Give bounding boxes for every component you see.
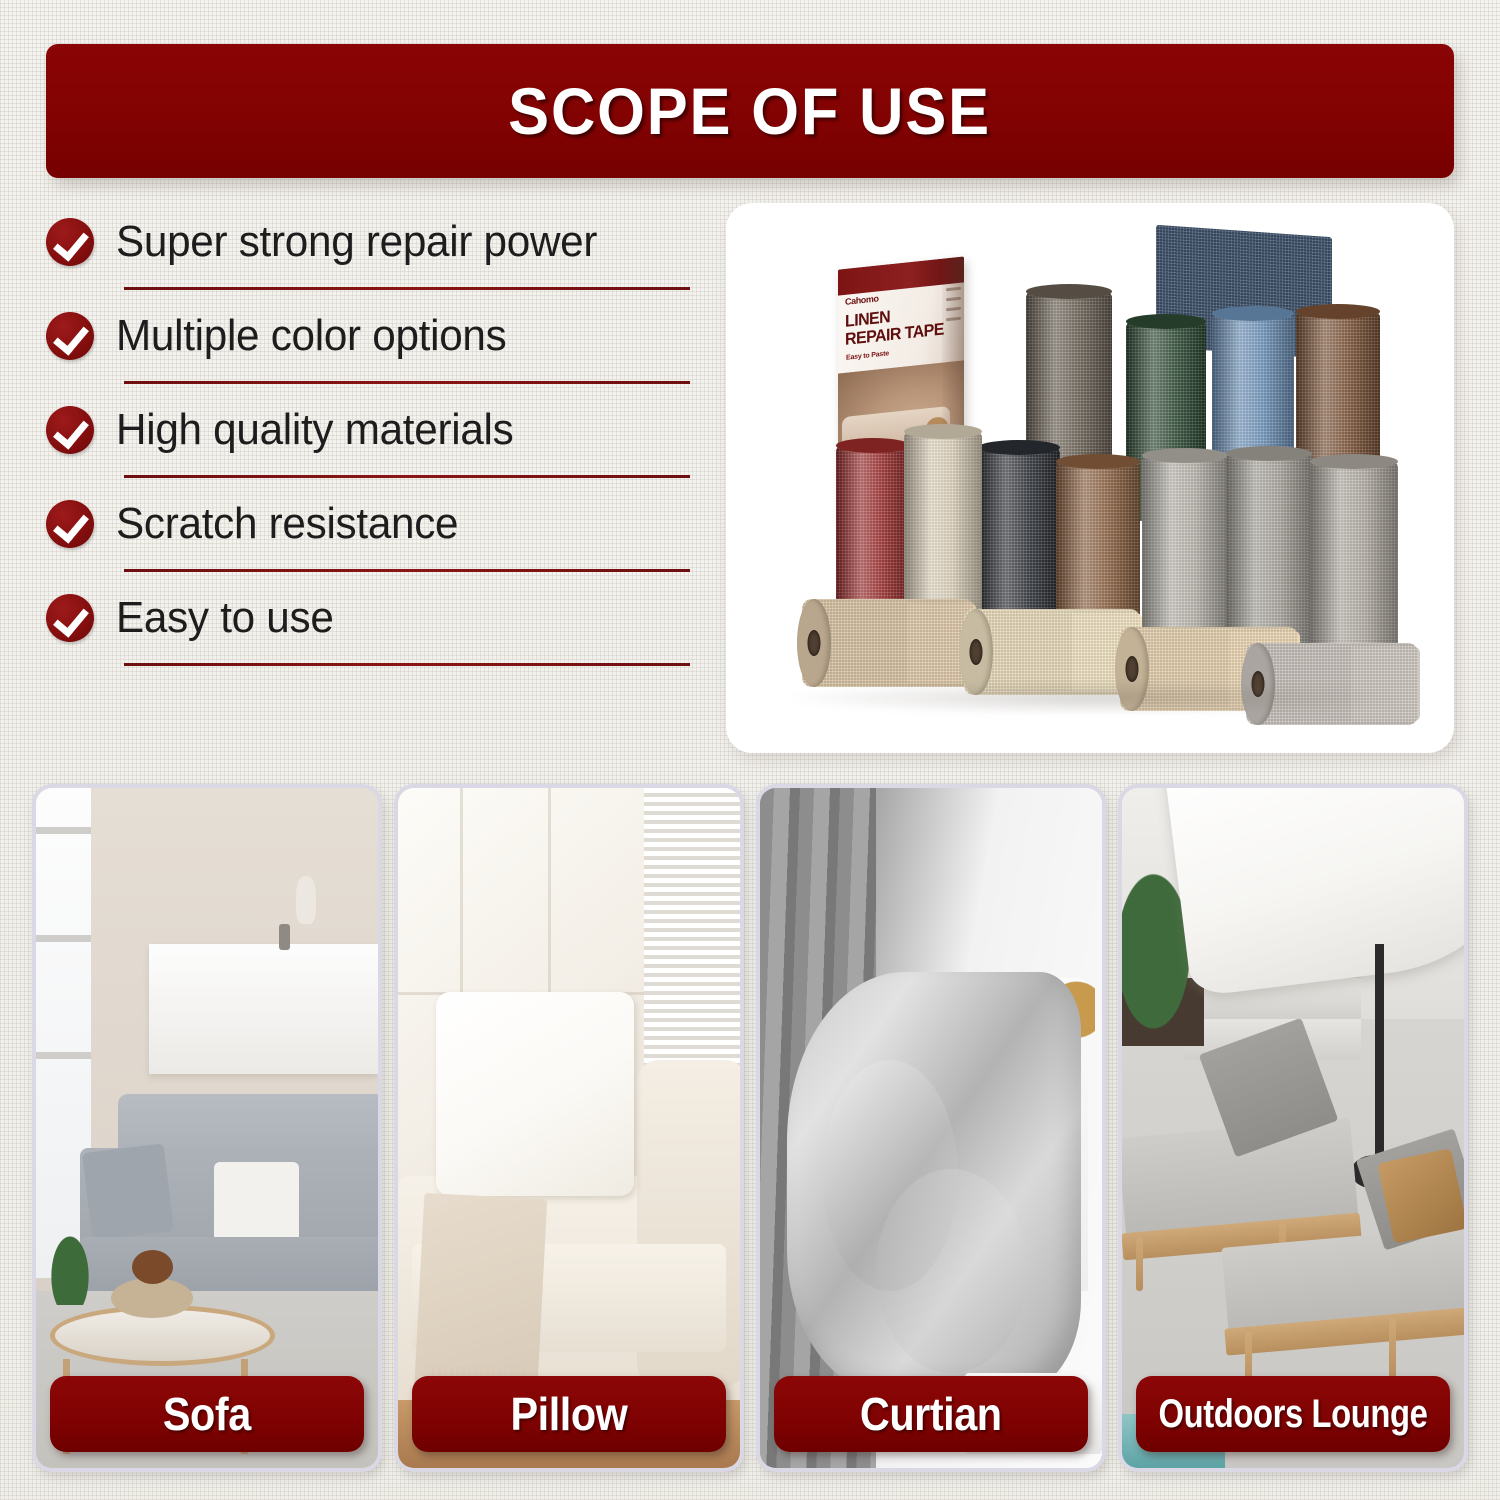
scene-label-text: Curtian [860,1387,1002,1441]
feature-label: Super strong repair power [116,217,597,267]
scene-label-text: Outdoors Lounge [1159,1392,1428,1437]
feature-label: High quality materials [116,405,513,455]
scene-card-curtain[interactable]: Curtian [756,784,1106,1472]
box-tag-easy: Easy to Paste [846,350,889,362]
feature-label: Multiple color options [116,311,506,361]
scene-label-sofa: Sofa [50,1376,364,1452]
scene-card-sofa[interactable]: Sofa [32,784,382,1472]
scene-photo-grid: Sofa Pillow [32,784,1468,1472]
sofa-photo [36,788,378,1468]
feature-label: Easy to use [116,593,334,643]
scene-label-pillow: Pillow [412,1376,726,1452]
feature-label: Scratch resistance [116,499,458,549]
box-product-name: LINEN REPAIR TAPE [845,302,944,348]
product-photo-card: Cahomo LINEN REPAIR TAPE Easy to Paste Q… [726,203,1454,753]
feature-list: Super strong repair power Multiple color… [46,196,706,666]
check-circle-icon [46,406,94,454]
check-circle-icon [46,594,94,642]
feature-item: Scratch resistance [46,478,706,569]
curtain-photo [760,788,1102,1468]
product-drop-shadow [786,681,1404,715]
scene-card-pillow[interactable]: Pillow [394,784,744,1472]
brand-logo: Cahomo [845,293,879,307]
scene-card-outdoors-lounge[interactable]: Outdoors Lounge [1118,784,1468,1472]
page-title: SCOPE OF USE [509,73,992,149]
scene-label-text: Sofa [163,1387,251,1441]
feature-item: High quality materials [46,384,706,475]
product-stage: Cahomo LINEN REPAIR TAPE Easy to Paste Q… [726,203,1454,753]
box-feature-bullets [946,287,961,322]
outdoors-lounge-photo [1122,788,1464,1468]
check-circle-icon [46,312,94,360]
check-circle-icon [46,218,94,266]
feature-item: Super strong repair power [46,196,706,287]
tape-roll-lying-tan [802,599,974,687]
feature-divider [124,663,690,666]
feature-item: Easy to use [46,572,706,663]
scene-label-text: Pillow [511,1387,628,1441]
scope-of-use-banner: SCOPE OF USE [46,44,1454,178]
scene-label-outdoors-lounge: Outdoors Lounge [1136,1376,1450,1452]
feature-item: Multiple color options [46,290,706,381]
pillow-photo [398,788,740,1468]
scene-label-curtain: Curtian [774,1376,1088,1452]
check-circle-icon [46,500,94,548]
